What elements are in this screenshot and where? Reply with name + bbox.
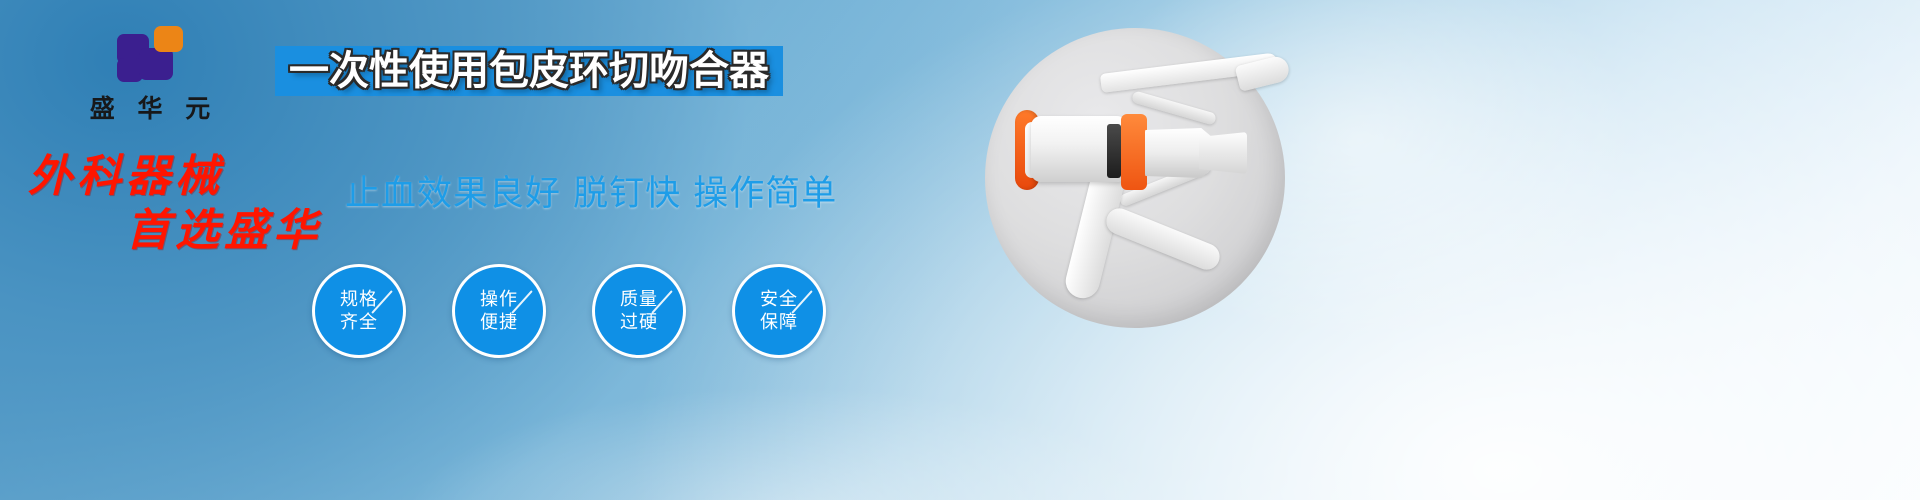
- device-nose-tip: [1199, 132, 1247, 174]
- feature-badge-3-line1: 质量: [620, 288, 658, 311]
- feature-badge-1[interactable]: 规格 齐全: [312, 264, 406, 358]
- product-subtitle: 止血效果良好 脱钉快 操作简单: [345, 165, 837, 216]
- calligraphy-line-2: 首选盛华: [126, 204, 352, 258]
- feature-badge-2-line2: 便捷: [480, 311, 518, 334]
- feature-badge-2-line1: 操作: [480, 288, 518, 311]
- feature-badge-1-line1: 规格: [340, 288, 378, 311]
- feature-badge-row: 规格 齐全 操作 便捷 质量 过硬 安全 保障: [312, 264, 826, 358]
- stapler-device-illustration: [985, 28, 1285, 328]
- feature-badge-3-line2: 过硬: [620, 311, 658, 334]
- feature-badge-4[interactable]: 安全 保障: [732, 264, 826, 358]
- logo-shape-orange-square: [154, 26, 183, 52]
- product-title-bar: 一次性使用包皮环切吻合器: [275, 46, 783, 96]
- promo-banner: 盛 华 元 外科器械 首选盛华 一次性使用包皮环切吻合器 止血效果良好 脱钉快 …: [0, 0, 1920, 500]
- logo-shape-right-lower: [139, 48, 173, 80]
- feature-badge-2[interactable]: 操作 便捷: [452, 264, 546, 358]
- brand-logo-block[interactable]: 盛 华 元: [60, 26, 240, 121]
- feature-badge-4-line1: 安全: [760, 288, 798, 311]
- calligraphy-line-1: 外科器械: [28, 150, 352, 204]
- brand-logo-icon: [117, 26, 183, 88]
- feature-badge-3[interactable]: 质量 过硬: [592, 264, 686, 358]
- device-dark-band: [1107, 124, 1121, 178]
- device-orange-collar: [1121, 114, 1147, 190]
- product-title: 一次性使用包皮环切吻合器: [289, 51, 769, 91]
- feature-badge-1-line2: 齐全: [340, 311, 378, 334]
- calligraphy-slogan: 外科器械 首选盛华: [22, 150, 352, 258]
- feature-badge-4-line2: 保障: [760, 311, 798, 334]
- product-image: [985, 28, 1285, 328]
- brand-name: 盛 华 元: [60, 96, 240, 121]
- device-lower-handle-tail: [1102, 204, 1223, 273]
